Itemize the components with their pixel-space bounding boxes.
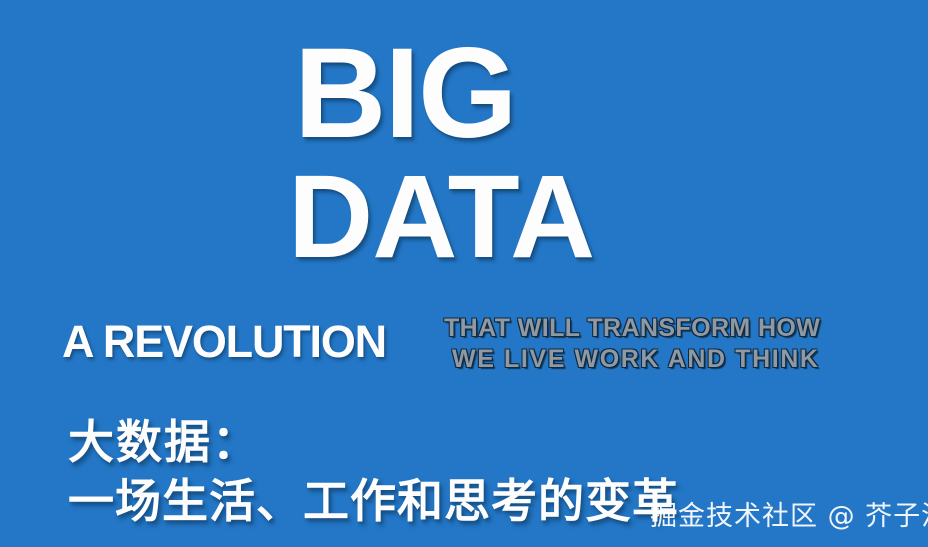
chinese-title-line-1: 大数据： [68,419,260,465]
tagline-line-2: WE LIVE WORK AND THINK [444,344,820,375]
headline-big: BIG [294,30,516,158]
tagline-line-1: THAT WILL TRANSFORM HOW [444,313,820,344]
subtitle-a-revolution: A REVOLUTION [62,319,386,364]
big-data-poster: BIG DATA A REVOLUTION THAT WILL TRANSFOR… [0,0,928,547]
watermark-text: 掘金技术社区 @ 芥子沫 [650,503,928,530]
headline-data: DATA [288,158,594,276]
tagline-block: THAT WILL TRANSFORM HOW WE LIVE WORK AND… [444,313,820,374]
chinese-title-line-2: 一场生活、工作和思考的变革 [68,478,679,524]
